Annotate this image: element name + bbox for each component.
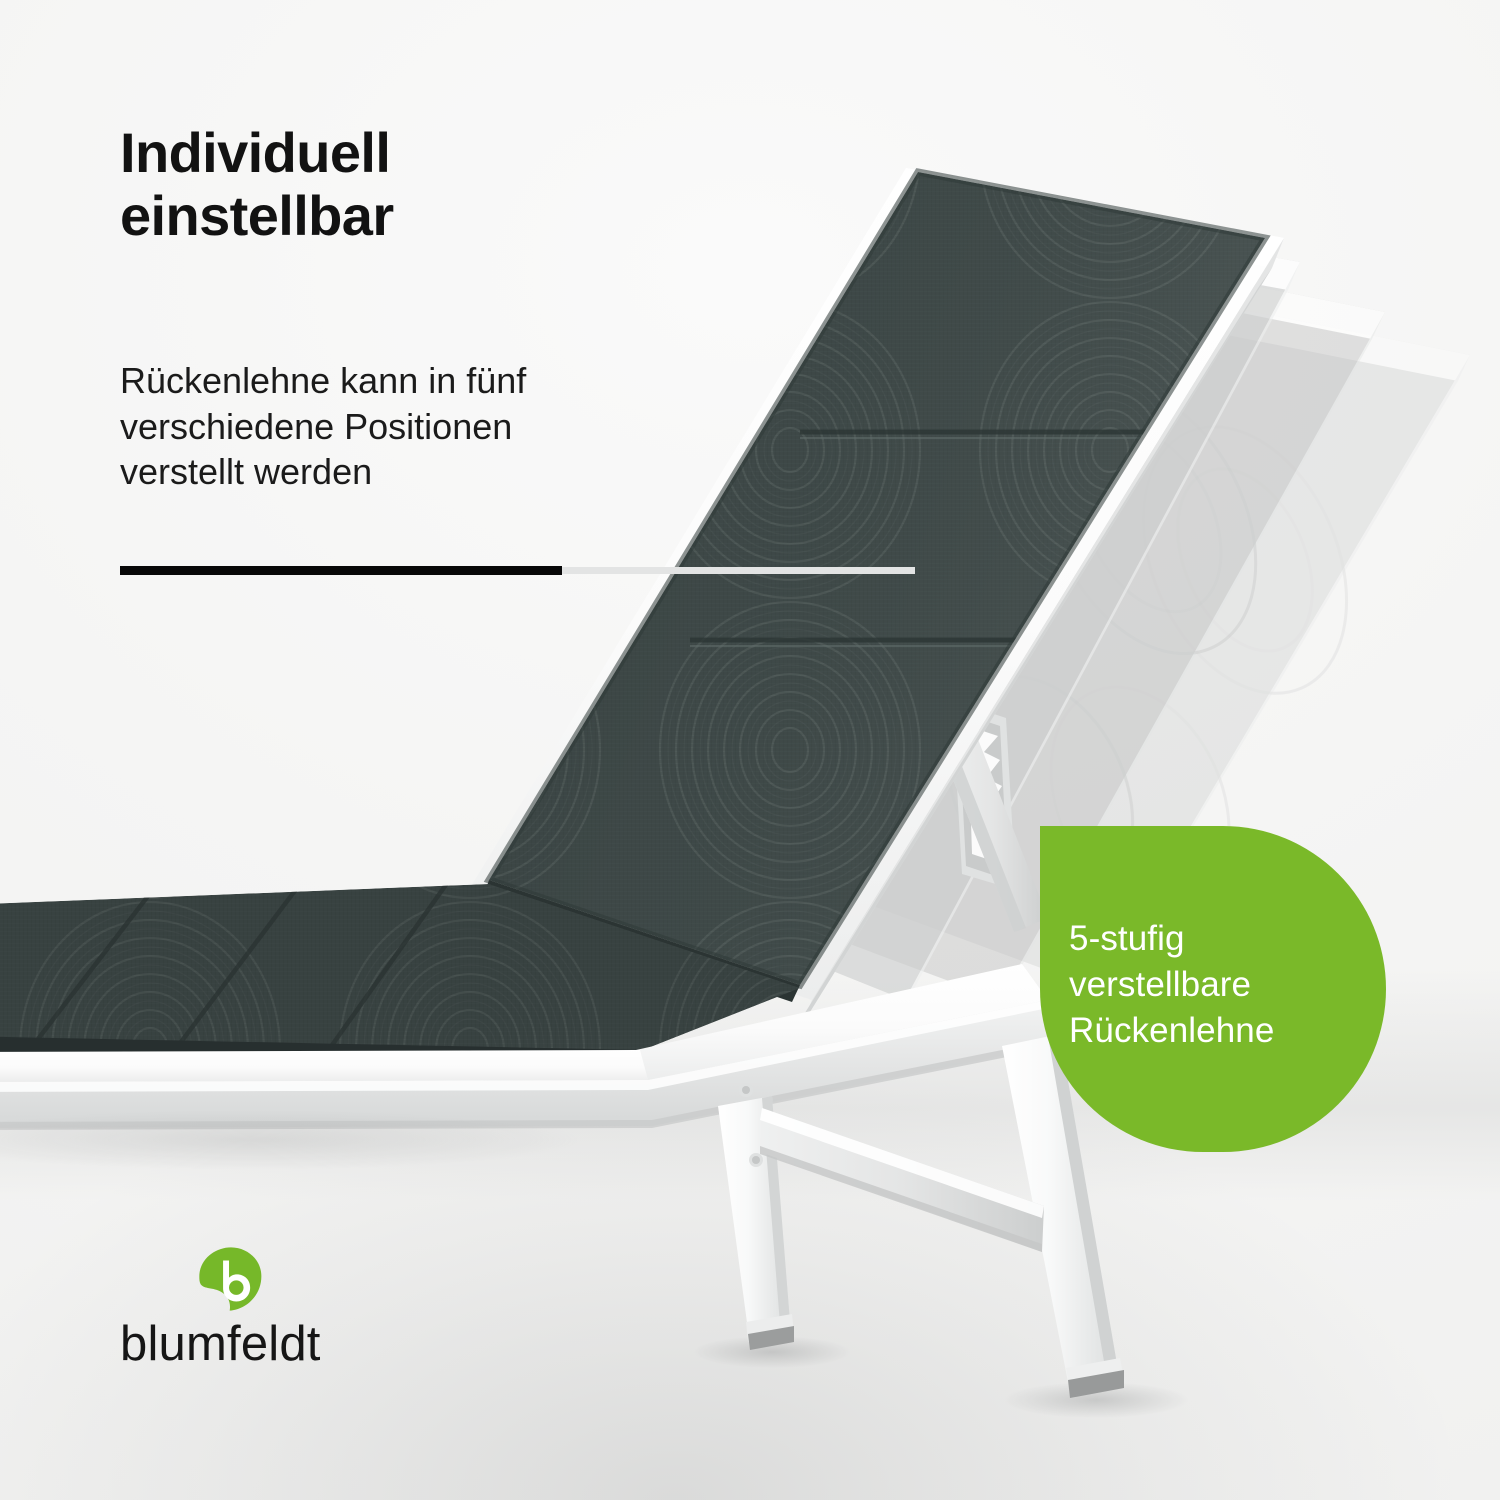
brand-logo: blumfeldt xyxy=(120,1246,362,1406)
marketing-image-canvas: Individuell einstellbar Rückenlehne kann… xyxy=(0,0,1500,1500)
divider-dark-segment xyxy=(120,566,562,575)
feature-badge: 5-stufig verstellbare Rückenlehne xyxy=(1040,826,1386,1152)
divider xyxy=(120,566,915,575)
page-title: Individuell einstellbar xyxy=(120,122,760,247)
subheading-description: Rückenlehne kann in fünf verschiedene Po… xyxy=(120,358,720,495)
blumfeldt-leaf-icon xyxy=(198,1246,264,1312)
divider-light-segment xyxy=(562,567,915,574)
feature-badge-label: 5-stufig verstellbare Rückenlehne xyxy=(1040,916,1274,1062)
brand-wordmark: blumfeldt xyxy=(120,1320,321,1369)
